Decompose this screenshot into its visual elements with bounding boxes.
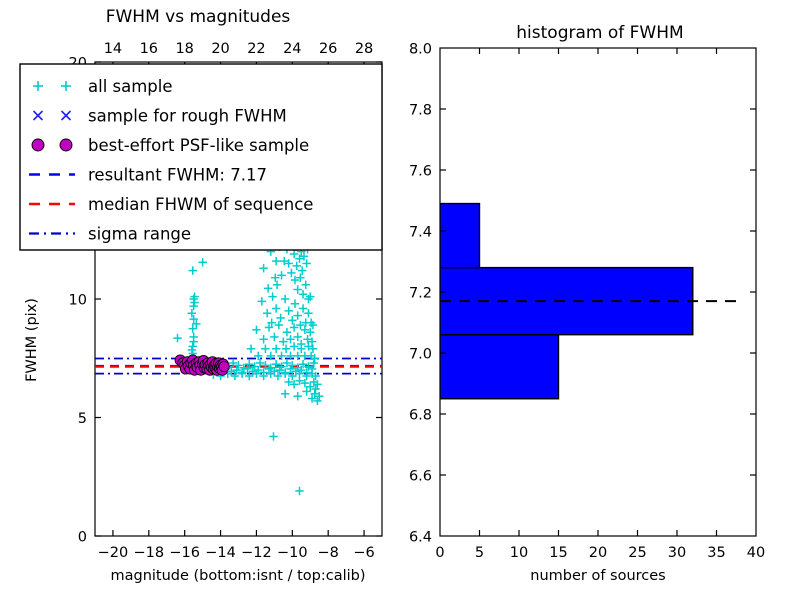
histogram-plot-svg: histogram of FWHM 6.46.66.87.07.27.47.67…	[400, 0, 800, 600]
x-tick-label-top: 28	[355, 41, 373, 57]
y-tick-label: 7.4	[409, 225, 432, 241]
legend-label: resultant FWHM: 7.17	[88, 166, 267, 185]
y-tick-label: 7.6	[409, 164, 432, 180]
right-panel-title: histogram of FWHM	[516, 23, 683, 43]
histogram-bar	[440, 204, 480, 268]
psf-dot-marker	[219, 361, 229, 371]
x-tick-label-bottom: −20	[98, 545, 129, 561]
legend-dot-marker	[60, 139, 72, 151]
x-tick-label-bottom: −16	[169, 545, 200, 561]
x-tick-label: 40	[747, 545, 765, 561]
x-tick-label-bottom: −8	[318, 545, 339, 561]
y-tick-label: 6.6	[409, 469, 432, 485]
scatter-plot-svg: FWHM vs magnitudes 1416182022242628 −20−…	[0, 0, 400, 600]
y-tick-label: 7.2	[409, 286, 432, 302]
left-legend: all samplesample for rough FWHMbest-effo…	[20, 64, 382, 250]
y-tick-label: 0	[78, 530, 87, 546]
x-tick-label-top: 14	[104, 41, 122, 57]
legend-label: sigma range	[88, 225, 191, 244]
x-tick-label-top: 24	[283, 41, 301, 57]
x-tick-label-top: 22	[247, 41, 265, 57]
y-tick-label: 8.0	[409, 42, 432, 58]
x-tick-label-top: 20	[211, 41, 229, 57]
legend-label: sample for rough FWHM	[88, 107, 287, 126]
legend-label: all sample	[88, 77, 173, 96]
x-tick-label-bottom: −6	[353, 545, 374, 561]
x-tick-label-bottom: −10	[277, 545, 308, 561]
left-x-axis-label: magnitude (bottom:isnt / top:calib)	[110, 568, 365, 584]
y-tick-label: 10	[69, 293, 87, 309]
left-panel-title: FWHM vs magnitudes	[106, 7, 291, 27]
y-tick-label: 5	[78, 411, 87, 427]
x-tick-label-bottom: −14	[205, 545, 236, 561]
x-tick-label-bottom: −12	[241, 545, 272, 561]
right-panel-histogram: histogram of FWHM 6.46.66.87.07.27.47.67…	[400, 0, 800, 600]
figure-canvas: FWHM vs magnitudes 1416182022242628 −20−…	[0, 0, 800, 600]
x-tick-label-top: 18	[175, 41, 193, 57]
x-tick-label: 20	[589, 545, 607, 561]
x-tick-label: 35	[707, 545, 725, 561]
left-y-axis-label: FWHM (pix)	[24, 298, 40, 382]
x-tick-label: 10	[510, 545, 528, 561]
left-panel-scatter: FWHM vs magnitudes 1416182022242628 −20−…	[0, 0, 400, 600]
x-tick-label: 25	[628, 545, 646, 561]
histogram-bar	[440, 335, 559, 399]
left-top-axis: 1416182022242628	[104, 41, 374, 57]
y-tick-label: 7.8	[409, 103, 432, 119]
y-tick-label: 6.8	[409, 408, 432, 424]
legend-label: median FHWM of sequence	[88, 195, 313, 214]
x-tick-label: 30	[668, 545, 686, 561]
x-tick-label-top: 16	[140, 41, 158, 57]
right-x-axis-label: number of sources	[530, 568, 666, 584]
y-tick-label: 7.0	[409, 347, 432, 363]
x-tick-label: 5	[475, 545, 484, 561]
x-tick-label-top: 26	[319, 41, 337, 57]
legend-label: best-effort PSF-like sample	[88, 136, 309, 155]
legend-dot-marker	[32, 139, 44, 151]
y-tick-label: 6.4	[409, 530, 432, 546]
x-tick-label: 15	[549, 545, 567, 561]
x-tick-label: 0	[435, 545, 444, 561]
scatter-series-psf-like	[175, 355, 229, 375]
x-tick-label-bottom: −18	[134, 545, 165, 561]
legend-box	[20, 64, 382, 250]
